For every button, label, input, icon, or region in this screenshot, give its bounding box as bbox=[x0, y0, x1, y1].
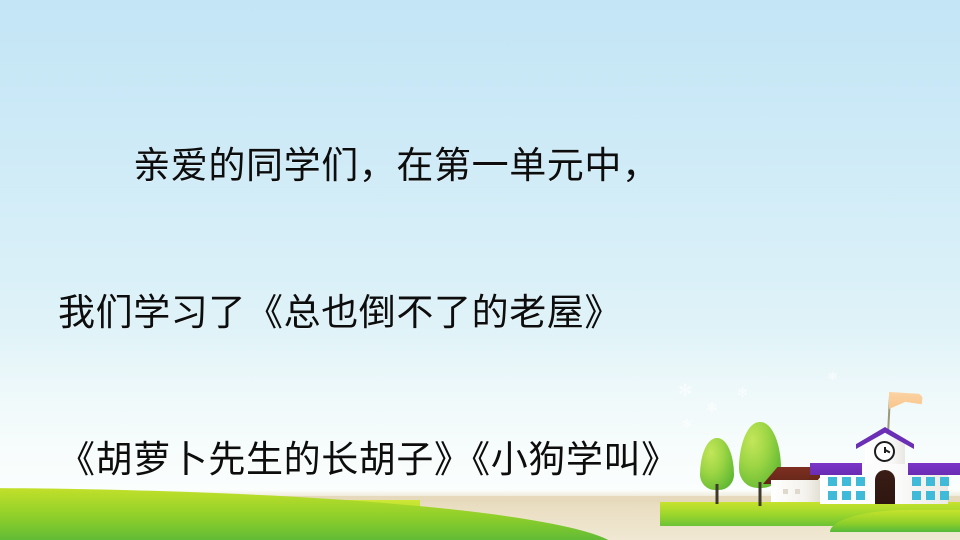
school-window bbox=[926, 477, 935, 486]
text-line: 我们学习了《总也倒不了的老屋》 bbox=[58, 289, 888, 338]
school-window bbox=[912, 477, 921, 486]
slide-canvas: ✻ ✻ ✻ ✻ ✻ bbox=[0, 0, 960, 540]
school-window bbox=[926, 491, 935, 500]
text-line: 亲爱的同学们，在第一单元中， bbox=[58, 142, 888, 191]
school-awning-right bbox=[908, 463, 960, 475]
text-line: 《胡萝卜先生的长胡子》《小狗学叫》 bbox=[58, 436, 888, 485]
slide-body-text: 亲爱的同学们，在第一单元中， 我们学习了《总也倒不了的老屋》 《胡萝卜先生的长胡… bbox=[58, 44, 888, 540]
school-window bbox=[940, 477, 949, 486]
flag-icon bbox=[889, 392, 923, 409]
school-window bbox=[912, 491, 921, 500]
school-window bbox=[940, 491, 949, 500]
